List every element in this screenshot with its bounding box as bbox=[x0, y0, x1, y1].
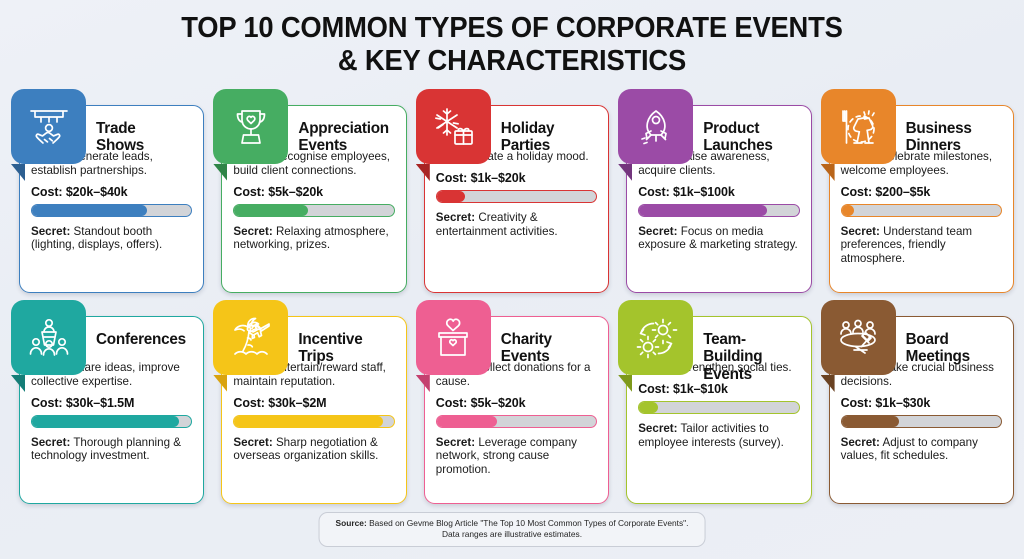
event-card[interactable]: CharityEvents Goals: Collect donations f… bbox=[424, 316, 609, 504]
card-icon-tab bbox=[11, 89, 86, 164]
card-fold bbox=[213, 375, 227, 392]
event-card[interactable]: BusinessDinners Goals: Celebrate milesto… bbox=[829, 105, 1014, 293]
cost-label: Cost: bbox=[233, 396, 264, 410]
event-card[interactable]: AppreciationEvents Goals: Recognise empl… bbox=[221, 105, 406, 293]
secret-label: Secret: bbox=[233, 225, 272, 238]
cost-progress-fill bbox=[32, 416, 179, 427]
source-label: Source: bbox=[336, 518, 367, 528]
card-secret: Secret: Standout booth (lighting, displa… bbox=[31, 225, 192, 253]
cost-value: $1k–$30k bbox=[875, 396, 930, 410]
palm-tree-airplane-icon bbox=[227, 314, 275, 362]
card-secret: Secret: Understand team preferences, fri… bbox=[841, 225, 1002, 266]
card-icon-tab bbox=[416, 89, 491, 164]
card-title-line1: Charity bbox=[501, 331, 552, 348]
card-title-line1: Incentive bbox=[298, 331, 362, 348]
card-cost: Cost: $5k–$20k bbox=[436, 396, 597, 410]
cost-label: Cost: bbox=[841, 396, 872, 410]
card-fold bbox=[618, 375, 632, 392]
infographic-page: TOP 10 COMMON TYPES OF CORPORATE EVENTS … bbox=[0, 0, 1024, 559]
cost-label: Cost: bbox=[436, 171, 467, 185]
secret-label: Secret: bbox=[841, 225, 880, 238]
cost-value: $1k–$10k bbox=[673, 382, 728, 396]
cost-label: Cost: bbox=[841, 185, 872, 199]
cost-progress-bar bbox=[436, 415, 597, 428]
cost-progress-fill bbox=[639, 402, 658, 413]
card-cost: Cost: $30k–$1.5M bbox=[31, 396, 192, 410]
card-title-line1: Business bbox=[906, 120, 972, 137]
card-title-line2: Events bbox=[703, 366, 752, 383]
cost-label: Cost: bbox=[638, 185, 669, 199]
card-title-line2: Events bbox=[501, 348, 550, 365]
cost-progress-fill bbox=[437, 191, 466, 202]
page-title: TOP 10 COMMON TYPES OF CORPORATE EVENTS … bbox=[0, 0, 1024, 76]
secret-label: Secret: bbox=[841, 436, 880, 449]
trophy-heart-icon bbox=[227, 103, 275, 151]
card-icon-tab bbox=[213, 89, 288, 164]
page-title-line1: TOP 10 COMMON TYPES OF CORPORATE EVENTS bbox=[20, 14, 1003, 43]
card-title: Team-BuildingEvents bbox=[703, 331, 801, 383]
card-cost: Cost: $200–$5k bbox=[841, 185, 1002, 199]
cost-progress-bar bbox=[638, 204, 799, 217]
card-title-line2: Events bbox=[298, 137, 347, 154]
card-fold bbox=[213, 164, 227, 181]
snowflake-gift-icon bbox=[429, 103, 477, 151]
card-cost: Cost: $20k–$40k bbox=[31, 185, 192, 199]
card-fold bbox=[416, 164, 430, 181]
card-title-line1: Appreciation bbox=[298, 120, 389, 137]
card-title: CharityEvents bbox=[501, 331, 599, 366]
card-cost: Cost: $5k–$20k bbox=[233, 185, 394, 199]
cost-progress-fill bbox=[234, 416, 382, 427]
card-icon-tab bbox=[11, 300, 86, 375]
card-title-line1: Conferences bbox=[96, 331, 186, 348]
secret-label: Secret: bbox=[436, 436, 475, 449]
card-secret: Secret: Tailor activities to employee in… bbox=[638, 422, 799, 450]
event-card[interactable]: HolidayParties Goal: Create a holiday mo… bbox=[424, 105, 609, 293]
cost-progress-bar bbox=[841, 204, 1002, 217]
event-card[interactable]: TradeShows Goals: Generate leads, establ… bbox=[19, 105, 204, 293]
gears-arrows-icon bbox=[632, 314, 680, 362]
card-title-line1: Product bbox=[703, 120, 759, 137]
cost-progress-fill bbox=[842, 205, 855, 216]
card-fold bbox=[821, 164, 835, 181]
boardroom-gavel-icon bbox=[834, 314, 882, 362]
card-icon-tab bbox=[416, 300, 491, 375]
secret-label: Secret: bbox=[233, 436, 272, 449]
rocket-icon bbox=[632, 103, 680, 151]
card-cost: Cost: $1k–$20k bbox=[436, 171, 597, 185]
cost-label: Cost: bbox=[436, 396, 467, 410]
card-title-line1: Team-Building bbox=[703, 331, 762, 365]
card-title: BusinessDinners bbox=[906, 120, 1004, 155]
card-cost: Cost: $1k–$10k bbox=[638, 382, 799, 396]
cost-value: $1k–$100k bbox=[673, 185, 735, 199]
cost-value: $30k–$2M bbox=[268, 396, 326, 410]
cost-progress-fill bbox=[842, 416, 899, 427]
cost-progress-bar bbox=[31, 415, 192, 428]
card-title-line1: Trade bbox=[96, 120, 136, 137]
speaker-podium-audience-icon bbox=[25, 314, 73, 362]
source-line2: Data ranges are illustrative estimates. bbox=[442, 529, 582, 539]
card-icon-tab bbox=[618, 300, 693, 375]
cost-progress-bar bbox=[233, 415, 394, 428]
cost-label: Cost: bbox=[31, 185, 62, 199]
card-title-line1: Board bbox=[906, 331, 949, 348]
card-title-line2: Dinners bbox=[906, 137, 961, 154]
cost-value: $5k–$20k bbox=[471, 396, 526, 410]
cost-progress-bar bbox=[233, 204, 394, 217]
card-fold bbox=[11, 164, 25, 181]
card-cost: Cost: $30k–$2M bbox=[233, 396, 394, 410]
card-secret: Secret: Adjust to company values, fit sc… bbox=[841, 436, 1002, 464]
card-secret: Secret: Sharp negotiation & overseas org… bbox=[233, 436, 394, 464]
secret-label: Secret: bbox=[436, 211, 475, 224]
card-title-line2: Meetings bbox=[906, 348, 970, 365]
card-secret: Secret: Creativity & entertainment activ… bbox=[436, 211, 597, 239]
cost-progress-bar bbox=[31, 204, 192, 217]
cost-label: Cost: bbox=[31, 396, 62, 410]
card-icon-tab bbox=[821, 300, 896, 375]
cost-value: $30k–$1.5M bbox=[66, 396, 135, 410]
trade-show-booth-handshake-icon bbox=[25, 103, 73, 151]
cost-value: $20k–$40k bbox=[66, 185, 128, 199]
card-cost: Cost: $1k–$30k bbox=[841, 396, 1002, 410]
cost-value: $1k–$20k bbox=[471, 171, 526, 185]
card-title-line2: Launches bbox=[703, 137, 772, 154]
card-icon-tab bbox=[618, 89, 693, 164]
card-cost: Cost: $1k–$100k bbox=[638, 185, 799, 199]
card-fold bbox=[11, 375, 25, 392]
card-icon-tab bbox=[821, 89, 896, 164]
card-title: IncentiveTrips bbox=[298, 331, 396, 366]
cost-progress-bar bbox=[638, 401, 799, 414]
card-title-line1: Holiday bbox=[501, 120, 555, 137]
card-secret: Secret: Thorough planning & technology i… bbox=[31, 436, 192, 464]
cost-progress-fill bbox=[32, 205, 147, 216]
secret-label: Secret: bbox=[31, 225, 70, 238]
event-card[interactable]: IncentiveTrips Goals: Entertain/reward s… bbox=[221, 316, 406, 504]
secret-label: Secret: bbox=[638, 422, 677, 435]
card-title: BoardMeetings bbox=[906, 331, 1004, 366]
secret-label: Secret: bbox=[638, 225, 677, 238]
cost-progress-fill bbox=[234, 205, 307, 216]
card-icon-tab bbox=[213, 300, 288, 375]
card-title: HolidayParties bbox=[501, 120, 599, 155]
cost-progress-fill bbox=[639, 205, 767, 216]
card-title: AppreciationEvents bbox=[298, 120, 396, 155]
cost-value: $200–$5k bbox=[875, 185, 930, 199]
page-title-line2: & KEY CHARACTERISTICS bbox=[20, 47, 1003, 76]
event-card[interactable]: ProductLaunches Goals: Raise awareness, … bbox=[626, 105, 811, 293]
card-title: Conferences bbox=[96, 331, 194, 348]
card-secret: Secret: Relaxing atmosphere, networking,… bbox=[233, 225, 394, 253]
secret-label: Secret: bbox=[31, 436, 70, 449]
source-note: Source: Based on Gevme Blog Article "The… bbox=[319, 512, 706, 547]
cost-progress-bar bbox=[841, 415, 1002, 428]
card-title-line2: Shows bbox=[96, 137, 144, 154]
fork-plate-wine-glasses-icon bbox=[834, 103, 882, 151]
cost-label: Cost: bbox=[233, 185, 264, 199]
donation-box-heart-icon bbox=[429, 314, 477, 362]
event-card[interactable]: BoardMeetings Goals: Make crucial busine… bbox=[829, 316, 1014, 504]
event-card[interactable]: Conferences Goals: Share ideas, improve … bbox=[19, 316, 204, 504]
cost-progress-bar bbox=[436, 190, 597, 203]
event-card[interactable]: Team-BuildingEvents Goals: Strengthen so… bbox=[626, 316, 811, 504]
card-fold bbox=[618, 164, 632, 181]
source-line1: Based on Gevme Blog Article "The Top 10 … bbox=[369, 518, 688, 528]
card-title: ProductLaunches bbox=[703, 120, 801, 155]
card-secret: Secret: Focus on media exposure & market… bbox=[638, 225, 799, 253]
card-secret: Secret: Leverage company network, strong… bbox=[436, 436, 597, 477]
event-cards-grid: TradeShows Goals: Generate leads, establ… bbox=[10, 88, 1014, 504]
card-fold bbox=[821, 375, 835, 392]
cost-value: $5k–$20k bbox=[268, 185, 323, 199]
cost-progress-fill bbox=[437, 416, 498, 427]
card-title: TradeShows bbox=[96, 120, 194, 155]
card-title-line2: Parties bbox=[501, 137, 550, 154]
card-fold bbox=[416, 375, 430, 392]
cost-label: Cost: bbox=[638, 382, 669, 396]
card-title-line2: Trips bbox=[298, 348, 333, 365]
